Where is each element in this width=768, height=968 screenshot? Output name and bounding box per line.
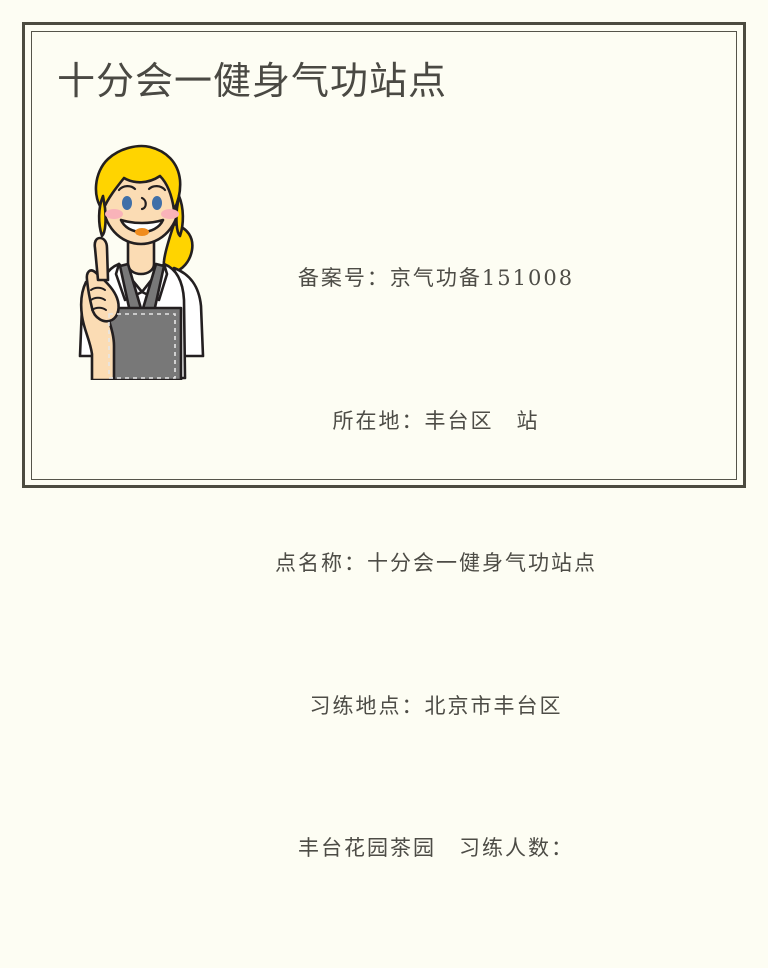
- info-line-location: 所在地：丰台区 站: [208, 398, 664, 446]
- info-line-station-name: 点名称：十分会一健身气功站点: [208, 540, 664, 588]
- blush-left-shape: [105, 209, 123, 219]
- info-line-practice-place: 习练地点：北京市丰台区: [208, 683, 664, 731]
- info-line-practice-count: 丰台花园茶园 习练人数：: [208, 825, 664, 873]
- station-info-card: 十分会一健身气功站点: [0, 0, 768, 510]
- eye-right-shape: [152, 196, 162, 210]
- info-line-record-number: 备案号：京气功备151008: [208, 255, 664, 303]
- eye-left-shape: [122, 196, 132, 210]
- index-finger-shape: [95, 238, 108, 280]
- page-title: 十分会一健身气功站点: [57, 58, 447, 104]
- station-info-text: 备案号：京气功备151008 所在地：丰台区 站 点名称：十分会一健身气功站点 …: [208, 160, 664, 968]
- hair-lock-left-shape: [99, 196, 105, 236]
- blush-right-shape: [161, 209, 179, 219]
- cartoon-woman-pointing-up-illustration: [62, 140, 222, 380]
- tongue-shape: [135, 228, 149, 236]
